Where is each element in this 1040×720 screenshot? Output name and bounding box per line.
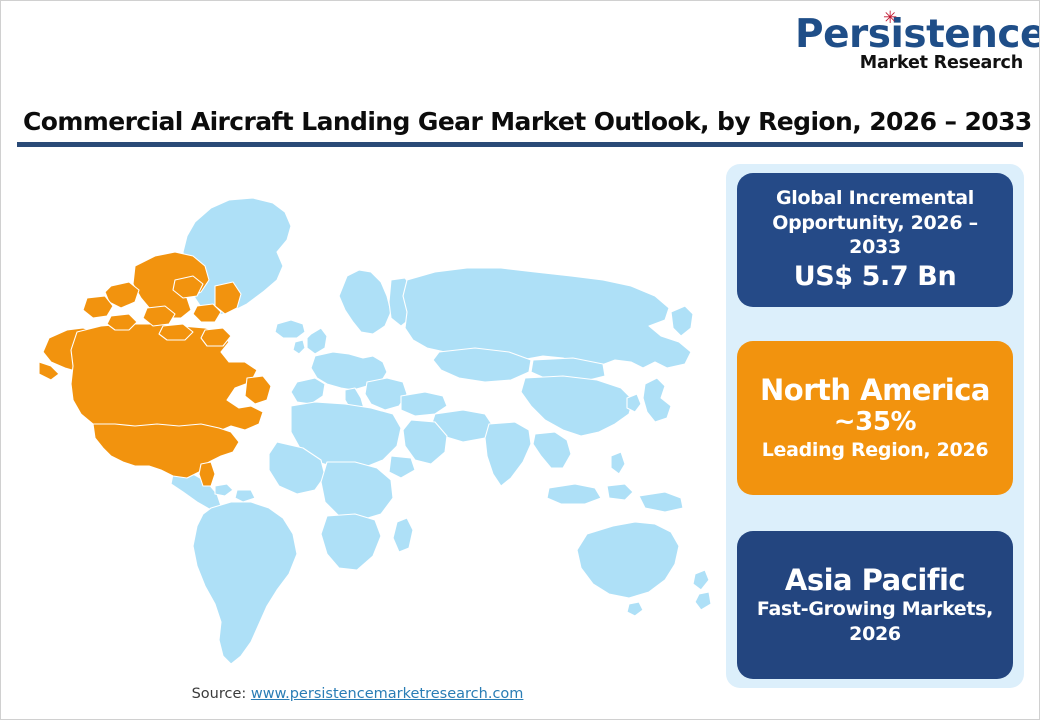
brand-logo-wordmark: Persistence ✳ [795,15,1040,54]
page-title: Commercial Aircraft Landing Gear Market … [23,107,1013,136]
fast-growing-region-caption: Fast-Growing Markets, 2026 [749,597,1001,646]
card-fast-growing-region: Asia Pacific Fast-Growing Markets, 2026 [737,531,1013,679]
opportunity-value: US$ 5.7 Bn [794,261,957,293]
world-map [15,156,715,676]
fast-growing-region-name: Asia Pacific [785,564,965,597]
infographic-frame: Persistence ✳ Market Research Commercial… [0,0,1040,720]
map-region-north-america-highlight [39,252,271,486]
world-map-svg [15,156,715,676]
brand-logo-name: Persistence [795,12,1040,57]
opportunity-label-line2: Opportunity, 2026 – 2033 [749,211,1001,260]
asterisk-icon: ✳ [883,10,897,27]
leading-region-name: North America [760,374,990,407]
title-divider [17,142,1023,147]
source-url-link[interactable]: www.persistencemarketresearch.com [251,686,524,702]
card-global-incremental-opportunity: Global Incremental Opportunity, 2026 – 2… [737,173,1013,307]
card-leading-region: North America ~35% Leading Region, 2026 [737,341,1013,495]
source-line: Source: www.persistencemarketresearch.co… [1,686,714,702]
brand-logo-tagline: Market Research [795,55,1023,73]
source-label: Source: [192,686,247,702]
leading-region-caption: Leading Region, 2026 [762,438,989,462]
map-region-rest-of-world [171,198,711,664]
brand-logo: Persistence ✳ Market Research [795,15,1023,73]
opportunity-label-line1: Global Incremental [776,186,974,210]
highlights-panel: Global Incremental Opportunity, 2026 – 2… [726,164,1024,688]
leading-region-share: ~35% [834,407,916,438]
